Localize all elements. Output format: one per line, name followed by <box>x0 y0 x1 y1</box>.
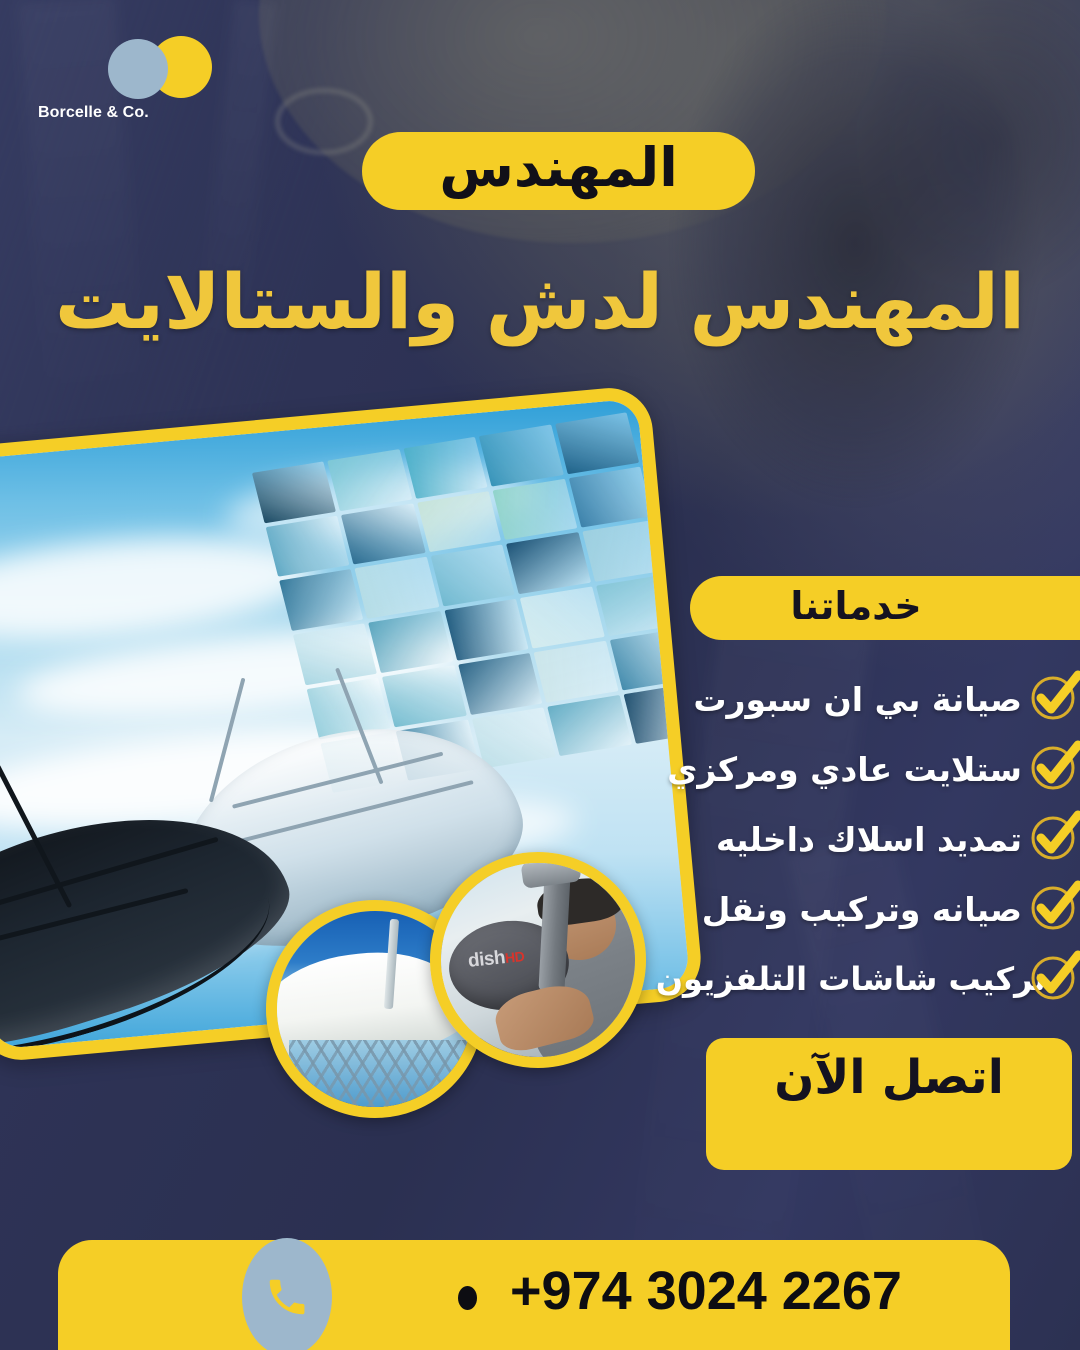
call-now-label: اتصل الآن <box>774 1050 1004 1105</box>
tv-screen-cell <box>252 461 336 523</box>
service-label: ستلايت عادي ومركزي <box>667 750 1022 789</box>
tv-screen-cell <box>328 449 412 511</box>
tv-screen-cell <box>582 520 666 582</box>
tv-screen-cell <box>403 436 487 498</box>
check-circle-icon <box>1030 814 1080 864</box>
phone-icon-badge <box>242 1238 332 1350</box>
call-now-button[interactable]: اتصل الآن <box>706 1038 1072 1170</box>
satellite-dish-dark <box>0 728 301 1050</box>
dish-brand-text: dish <box>467 947 506 972</box>
check-circle-icon <box>1030 954 1080 1004</box>
tv-screen-cell <box>293 623 377 685</box>
title-badge-label: المهندس <box>439 141 677 201</box>
logo-circles-icon <box>100 36 208 98</box>
services-title: خدماتنا <box>790 584 1009 632</box>
tv-screen-cell <box>341 503 425 565</box>
tv-screen-cell <box>279 569 363 631</box>
tv-screen-cell <box>369 611 453 673</box>
check-circle-icon <box>1030 674 1080 724</box>
services-header: خدماتنا <box>690 576 1080 640</box>
tv-screen-cell <box>506 532 590 594</box>
title-badge: المهندس <box>362 132 755 210</box>
brand-logo: Borcelle & Co. <box>38 36 208 122</box>
service-label: صيانه وتركيب ونقل <box>702 890 1022 929</box>
logo-blue-circle-icon <box>108 39 168 99</box>
tv-screen-cell <box>458 653 542 715</box>
bullet-dot <box>458 1286 477 1310</box>
tv-screen-cell <box>382 665 466 727</box>
tv-screen-cell <box>479 424 563 486</box>
tv-screen-cell <box>520 586 604 648</box>
service-item: ستلايت عادي ومركزي <box>676 734 1080 804</box>
tv-screen-cell <box>444 598 528 660</box>
tv-screen-cell <box>534 640 618 702</box>
service-item: صيانه وتركيب ونقل <box>676 874 1080 944</box>
service-item: صيانة بي ان سبورت <box>676 664 1080 734</box>
tv-screen-cell <box>555 412 639 474</box>
footer-bar: +974 3024 2267 <box>58 1240 1010 1350</box>
page-title: المهندس لدش والستالايت <box>0 258 1080 345</box>
phone-number[interactable]: +974 3024 2267 <box>510 1260 902 1322</box>
background-ring-shape <box>275 88 372 156</box>
tv-screen-cell <box>547 694 631 756</box>
tv-screen-cell <box>417 490 501 552</box>
tv-screen-cell <box>568 466 652 528</box>
check-circle-icon <box>1030 884 1080 934</box>
services-list: صيانة بي ان سبورتستلايت عادي ومركزيتمديد… <box>676 664 1080 1014</box>
dish-brand-hd: HD <box>504 948 525 966</box>
check-circle-icon <box>1030 744 1080 794</box>
service-label: تمديد اسلاك داخليه <box>716 820 1022 859</box>
tv-screen-cell <box>431 544 515 606</box>
service-item: تمديد اسلاك داخليه <box>676 804 1080 874</box>
brand-name: Borcelle & Co. <box>38 104 208 122</box>
tv-screen-cell <box>493 478 577 540</box>
service-label: تركيب شاشات التلفزيون <box>656 960 1046 998</box>
tv-screen-cell <box>266 515 350 577</box>
service-item: تركيب شاشات التلفزيون <box>676 944 1080 1014</box>
phone-handset-icon <box>264 1274 310 1320</box>
tv-screen-cell <box>355 557 439 619</box>
service-label: صيانة بي ان سبورت <box>693 680 1022 719</box>
poster-canvas: Borcelle & Co. المهندس المهندس لدش والست… <box>0 0 1080 1350</box>
photo-inset-right: dishHD <box>430 852 646 1068</box>
